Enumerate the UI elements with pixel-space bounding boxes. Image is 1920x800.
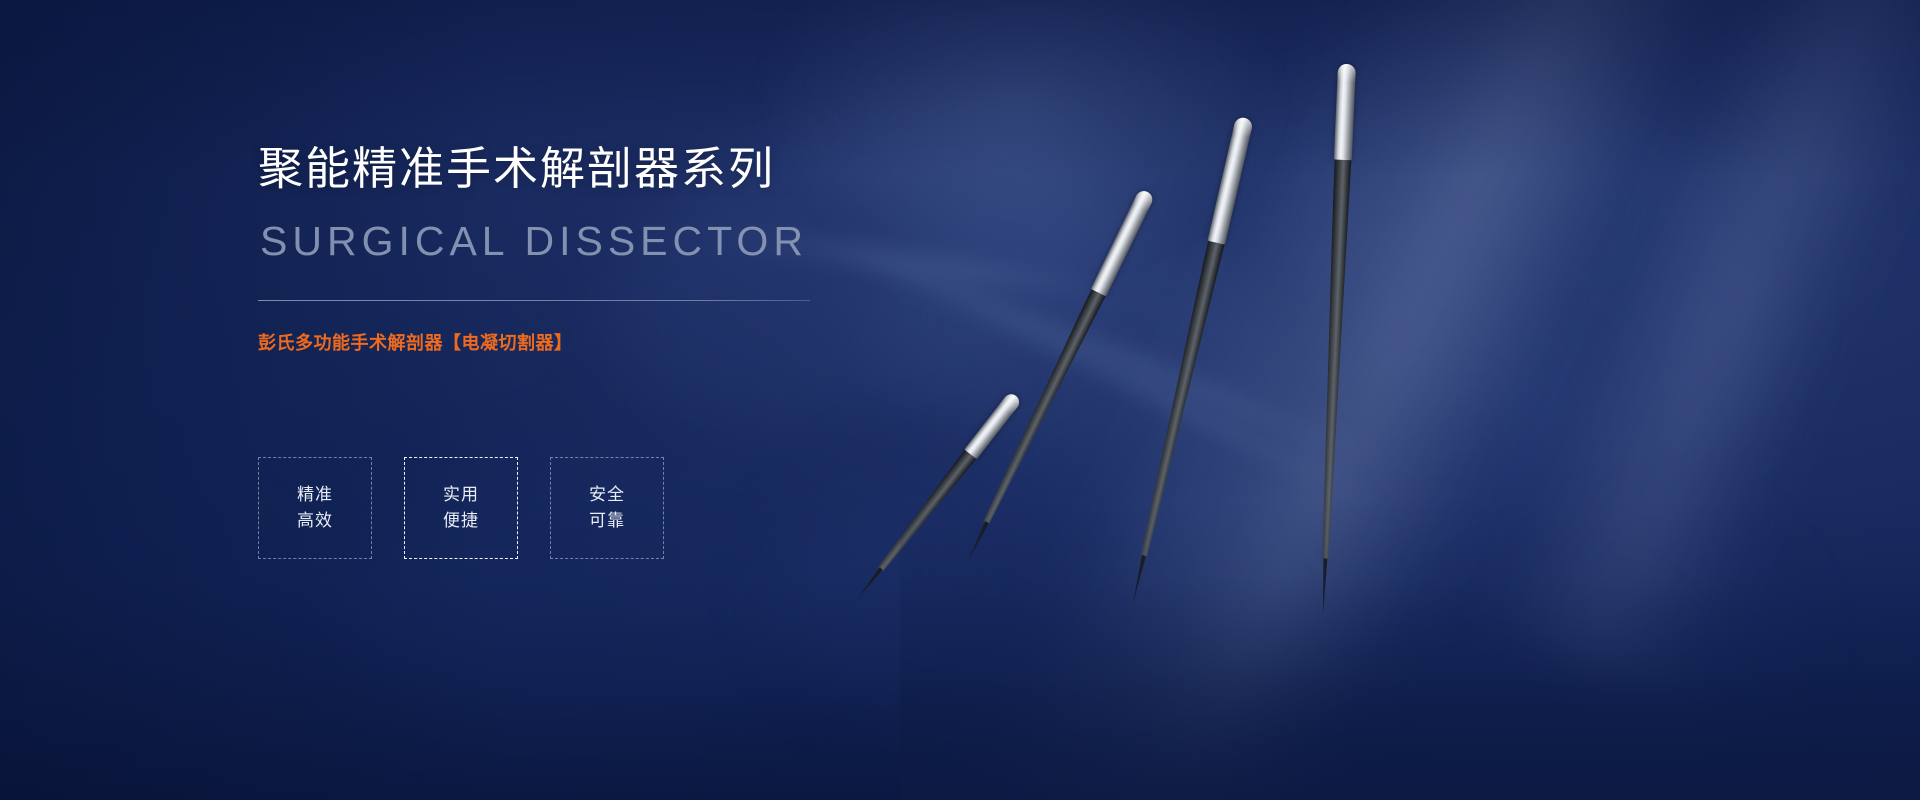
feature-tag-1: 精准 高效 <box>258 457 372 559</box>
feature-tag-2-line1: 实用 <box>443 486 479 504</box>
feature-tag-3-line2: 可靠 <box>589 512 625 530</box>
hero-banner: 聚能精准手术解剖器系列 SURGICAL DISSECTOR 彭氏多功能手术解剖… <box>0 0 1920 800</box>
feature-tag-3-line1: 安全 <box>589 486 625 504</box>
surgical-dissector-4 <box>1338 64 1356 65</box>
banner-text-block: 聚能精准手术解剖器系列 SURGICAL DISSECTOR 彭氏多功能手术解剖… <box>258 0 958 800</box>
feature-tag-2-line2: 便捷 <box>443 512 479 530</box>
feature-tag-3: 安全 可靠 <box>550 457 664 559</box>
feature-tag-list: 精准 高效 实用 便捷 安全 可靠 <box>258 457 664 559</box>
divider <box>258 300 810 301</box>
feature-tag-1-line1: 精准 <box>297 486 333 504</box>
surgical-dissector-3 <box>1236 116 1254 120</box>
feature-tag-2: 实用 便捷 <box>404 457 518 559</box>
product-name-label: 彭氏多功能手术解剖器【电凝切割器】 <box>258 329 573 355</box>
feature-tag-1-line2: 高效 <box>297 512 333 530</box>
page-title: 聚能精准手术解剖器系列 <box>258 132 775 197</box>
surgical-dissector-1 <box>1010 391 1023 401</box>
page-subtitle-english: SURGICAL DISSECTOR <box>260 218 808 265</box>
surgical-dissector-2 <box>1140 188 1155 195</box>
